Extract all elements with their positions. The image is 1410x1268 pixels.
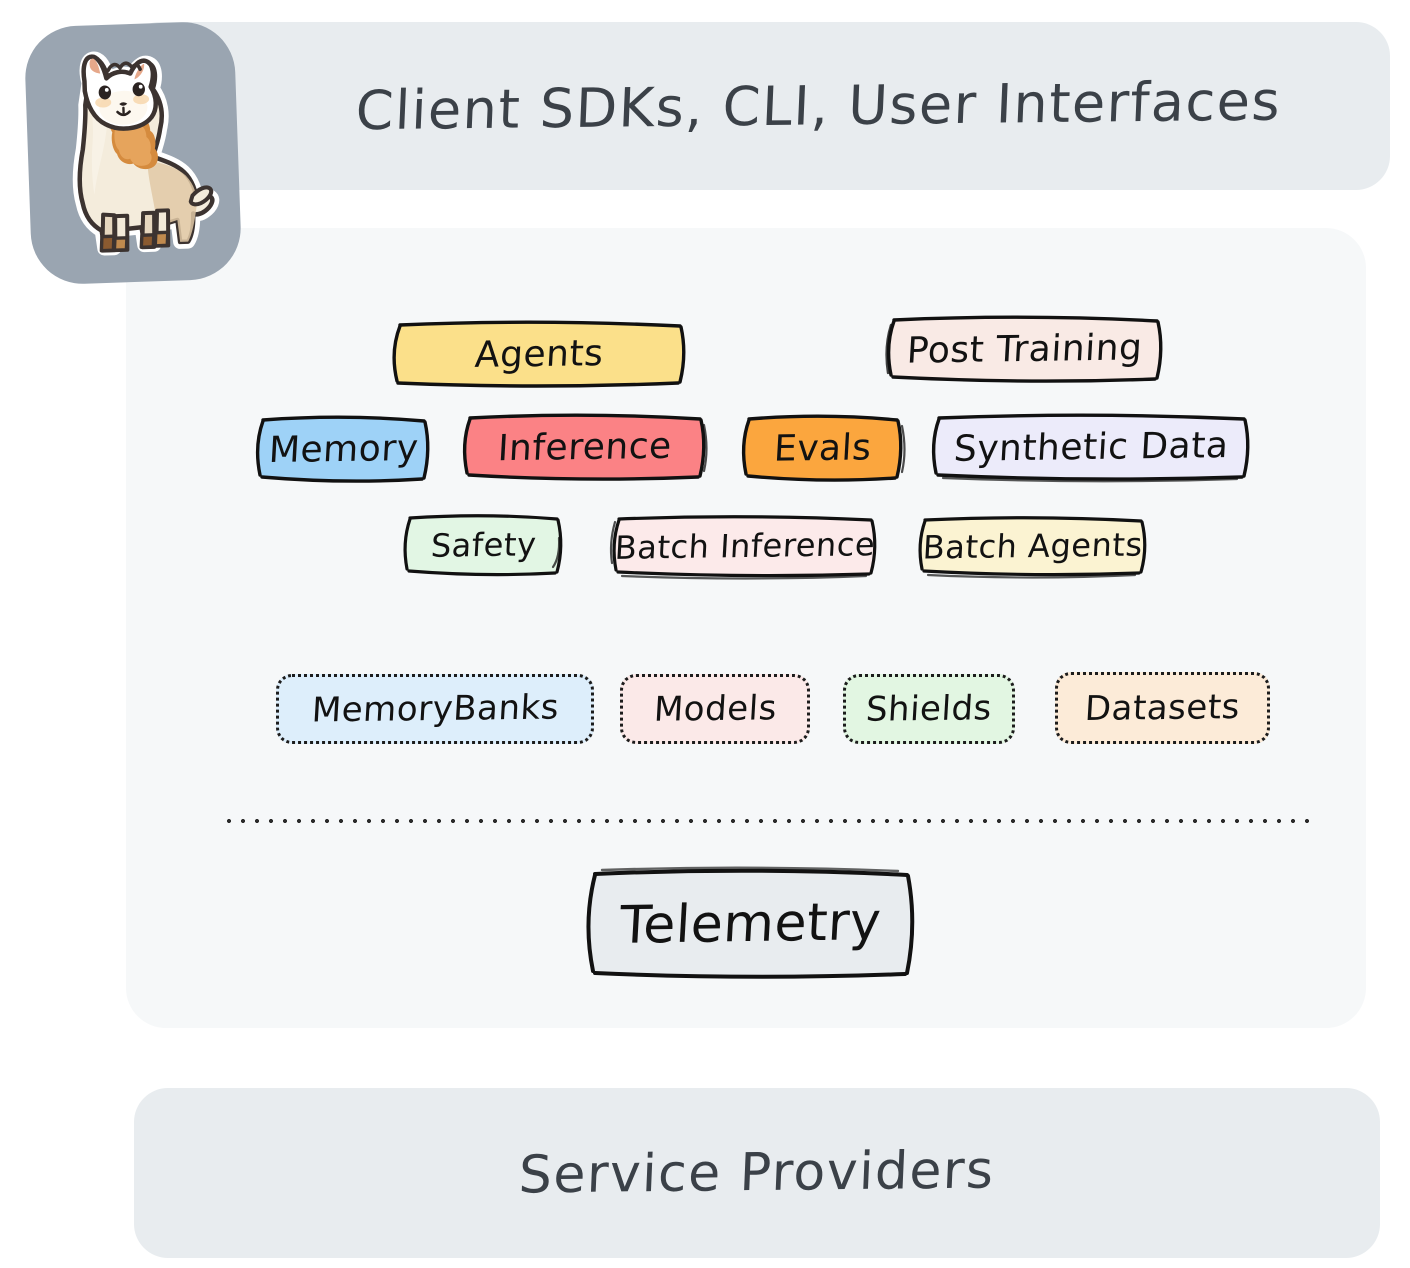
telemetry-box[interactable]: Telemetry xyxy=(568,866,934,981)
api-box-inference[interactable]: Inference xyxy=(456,411,713,483)
header-band: Client SDKs, CLI, User Interfaces xyxy=(126,22,1390,190)
api-box-label: Safety xyxy=(430,525,538,564)
diagram-canvas: Client SDKs, CLI, User Interfaces xyxy=(0,0,1410,1268)
resource-box-label: MemoryBanks xyxy=(310,687,559,730)
resource-box-label: Datasets xyxy=(1084,687,1241,729)
llama-logo-icon xyxy=(39,42,226,263)
llama-logo-badge xyxy=(24,20,243,285)
api-box-label: Inference xyxy=(496,425,672,468)
api-box-synthetic-data[interactable]: Synthetic Data xyxy=(925,411,1258,483)
footer-title: Service Providers xyxy=(518,1141,996,1206)
api-box-evals[interactable]: Evals xyxy=(736,412,910,484)
api-box-label: Synthetic Data xyxy=(953,425,1230,470)
api-box-memory[interactable]: Memory xyxy=(250,413,437,485)
api-box-batch-agents[interactable]: Batch Agents xyxy=(913,514,1153,578)
section-divider xyxy=(222,818,1318,824)
api-box-label: Agents xyxy=(474,333,605,376)
resource-box-shields[interactable]: Shields xyxy=(843,674,1015,744)
api-box-label: Evals xyxy=(773,427,873,469)
api-box-batch-inference[interactable]: Batch Inference xyxy=(606,513,884,579)
resource-box-models[interactable]: Models xyxy=(620,674,810,744)
api-box-label: Memory xyxy=(268,427,420,470)
telemetry-label: Telemetry xyxy=(619,892,884,956)
api-box-post-training[interactable]: Post Training xyxy=(880,313,1170,385)
api-box-label: Post Training xyxy=(906,327,1144,371)
resource-box-label: Shields xyxy=(865,688,993,730)
resource-box-memorybanks[interactable]: MemoryBanks xyxy=(276,674,594,744)
api-box-safety[interactable]: Safety xyxy=(398,512,570,578)
api-box-label: Batch Inference xyxy=(614,525,876,567)
header-title: Client SDKs, CLI, User Interfaces xyxy=(234,69,1282,143)
resource-box-datasets[interactable]: Datasets xyxy=(1055,672,1270,744)
api-box-label: Batch Agents xyxy=(922,525,1144,566)
api-box-agents[interactable]: Agents xyxy=(385,318,693,390)
resource-box-label: Models xyxy=(652,688,777,729)
footer-band: Service Providers xyxy=(134,1088,1380,1258)
